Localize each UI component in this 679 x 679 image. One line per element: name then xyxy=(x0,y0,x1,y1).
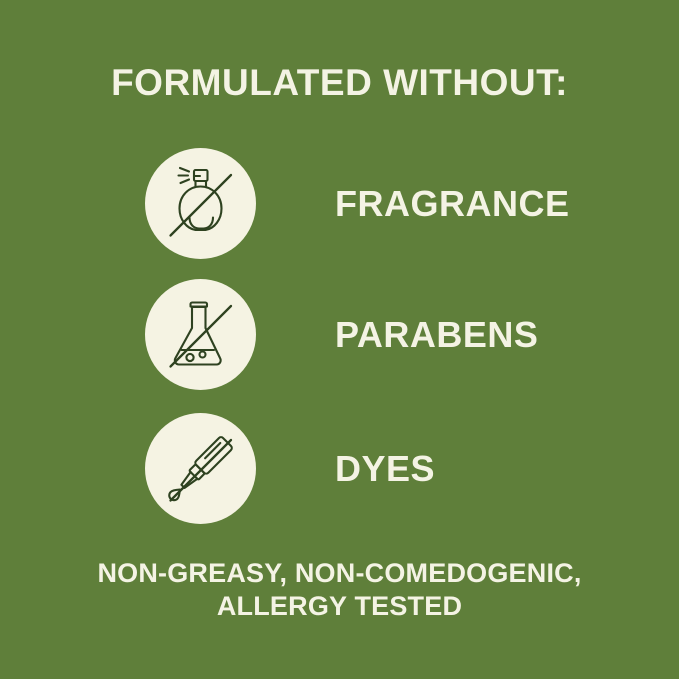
footer-line-1: NON-GREASY, NON-COMEDOGENIC, xyxy=(0,557,679,590)
list-item-label: DYES xyxy=(335,448,435,490)
footer-claims: NON-GREASY, NON-COMEDOGENIC, ALLERGY TES… xyxy=(0,557,679,623)
list-item: DYES xyxy=(145,413,645,524)
formulated-without-card: FORMULATED WITHOUT: xyxy=(0,0,679,679)
icon-badge xyxy=(145,413,256,524)
list-item-label: PARABENS xyxy=(335,314,538,356)
no-dropper-icon xyxy=(145,413,256,524)
no-fragrance-bottle-icon xyxy=(145,148,256,259)
no-flask-icon xyxy=(145,279,256,390)
footer-line-2: ALLERGY TESTED xyxy=(0,590,679,623)
page-title: FORMULATED WITHOUT: xyxy=(0,63,679,104)
list-item-label: FRAGRANCE xyxy=(335,183,570,225)
icon-badge xyxy=(145,279,256,390)
icon-badge xyxy=(145,148,256,259)
list-item: PARABENS xyxy=(145,279,645,390)
list-item: FRAGRANCE xyxy=(145,148,645,259)
